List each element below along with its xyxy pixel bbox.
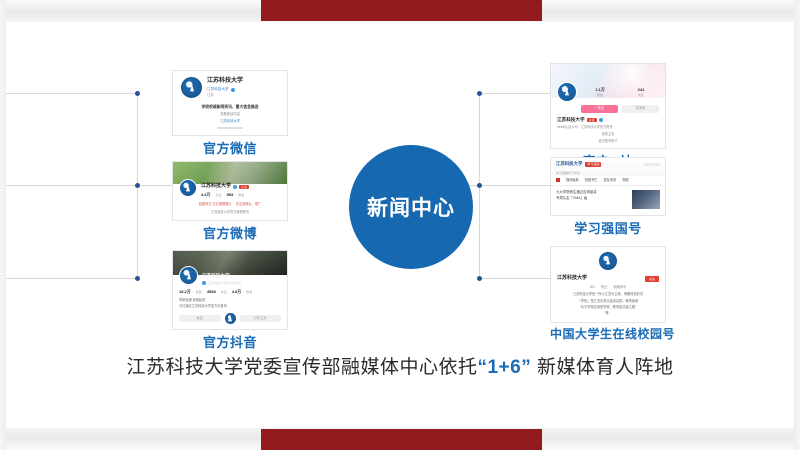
xuexi-navbar[interactable]: 媒体聚焦 校园专栏 校友风采 视频 (551, 176, 665, 186)
students-online-desc3: “水平学校应用型学校，教育部共建之路” (557, 305, 659, 310)
bilibili-card[interactable]: 1.1万 粉丝 241 关注 + 关注 发消息 江苏科技大学 (550, 63, 666, 149)
xuexi-nav-1[interactable]: 校园专栏 (585, 178, 598, 183)
douyin-stat1-value: 18.2万 (179, 289, 191, 295)
wechat-card[interactable]: 江苏科技大学 江苏科技大学 江苏 学校权威新闻资讯、重大信息推送 查看原创内容 … (172, 70, 288, 136)
xuexi-nav-3[interactable]: 视频 (622, 178, 628, 183)
slide-root: 新闻中心 江苏科技大学 江苏科技大学 江苏 (0, 0, 800, 450)
university-logo-icon (179, 266, 198, 285)
weibo-badge: 认证 (239, 185, 249, 190)
weibo-stat2-value: 553 (227, 192, 234, 198)
item-xuexi-qiangguo[interactable]: 江苏科技大学 学习强国 学习强国学习平台 媒体聚焦 校园专栏 校友风采 视频 (550, 157, 666, 237)
connector-node-left-middle (135, 183, 140, 188)
university-logo-icon (557, 82, 577, 102)
verified-badge-icon (599, 118, 603, 122)
bilibili-desc3: 官方账号简介 (557, 139, 659, 144)
verified-badge-icon (231, 88, 235, 92)
douyin-avatar-icon (225, 313, 236, 324)
students-online-desc1: 江苏科技大学是一所以江苏为主体、博鳌特色的省 (557, 292, 659, 297)
students-online-stat1-label: 粉丝 (601, 285, 607, 290)
douyin-desc2: 今日通过江苏科技大学官方抖音号 (179, 304, 281, 309)
item-official-wechat[interactable]: 江苏科技大学 江苏科技大学 江苏 学校权威新闻资讯、重大信息推送 查看原创内容 … (172, 70, 288, 157)
bilibili-message-button[interactable]: 发消息 (622, 105, 659, 113)
douyin-card[interactable]: 江苏科技大学 江苏科技大学官方抖音号 18.2万 获赞 4558 关注 4.8万 (172, 250, 288, 330)
bilibili-stat1-label: 粉丝 (582, 93, 618, 98)
douyin-desc1: 学研船魂 扬帆起航 (179, 298, 281, 303)
wechat-placeholder-line (217, 127, 243, 129)
connector-node-right-bottom (477, 276, 482, 281)
bilibili-desc1: bilibili认证公司：江苏科技大学官方账号 (557, 125, 659, 130)
douyin-message-button[interactable]: 私信 (179, 315, 221, 323)
douyin-share-button[interactable]: 分享主页 (240, 315, 282, 323)
xuexi-thumbnail (632, 190, 660, 209)
weibo-stat1-label: 关注 (216, 193, 222, 198)
wechat-line3: 江苏科技大学 (180, 119, 280, 124)
bilibili-desc2: 查看主页 (557, 132, 659, 137)
connector-left-top (6, 93, 137, 94)
hub-news-center[interactable]: 新闻中心 (349, 145, 473, 269)
item-official-bilibili[interactable]: 1.1万 粉丝 241 关注 + 关注 发消息 江苏科技大学 (550, 63, 666, 170)
students-online-stat2: 新媒体号 (613, 285, 626, 290)
weibo-stat2-label: 粉丝 (238, 193, 244, 198)
university-logo-icon (181, 77, 202, 98)
item-china-students-online[interactable]: 江苏科技大学 关注 600 粉丝 新媒体号 江苏科技大学是一所以江苏为主体、博鳌… (550, 246, 666, 342)
label-official-weibo: 官方微博 (172, 223, 288, 242)
accent-bar-bottom (261, 429, 542, 450)
caption-highlight: “1+6” (477, 357, 531, 378)
xuexi-headline2: 专项认定「CMA」级 (556, 196, 628, 201)
douyin-stat1-label: 获赞 (196, 290, 202, 295)
university-logo-icon (179, 179, 197, 197)
douyin-account-sub: 江苏科技大学官方抖音号 (208, 281, 241, 286)
caption-prefix: 江苏科技大学党委宣传部融媒体中心依托 (126, 357, 477, 378)
caption-suffix: 新媒体育人阵地 (537, 357, 674, 378)
weibo-account-name: 江苏科技大学 (201, 183, 231, 191)
students-online-stat1: 600 (590, 285, 595, 290)
wechat-card-body: 学校权威新闻资讯、重大信息推送 查看原创内容 江苏科技大学 (173, 103, 287, 136)
menu-icon[interactable] (556, 178, 560, 182)
label-official-douyin: 官方抖音 (172, 332, 288, 351)
xuexi-headline1: 九大学院师生通过百场宣讲 (556, 190, 628, 195)
label-xuexi-qiangguo: 学习强国号 (550, 218, 666, 237)
douyin-account-name: 江苏科技大学 (202, 273, 281, 280)
verified-badge-icon (233, 185, 237, 189)
connector-left-middle (6, 185, 137, 186)
slide-frame-right (794, 0, 800, 450)
xuexi-card[interactable]: 江苏科技大学 学习强国 学习强国学习平台 媒体聚焦 校园专栏 校友风采 视频 (550, 157, 666, 216)
students-online-card[interactable]: 江苏科技大学 关注 600 粉丝 新媒体号 江苏科技大学是一所以江苏为主体、博鳌… (550, 246, 666, 323)
bilibili-follow-button[interactable]: + 关注 (581, 105, 618, 113)
connector-node-left-top (135, 91, 140, 96)
label-china-students-online: 中国大学生在线校园号 (550, 325, 666, 342)
bilibili-identity-row: 1.1万 粉丝 241 关注 (557, 82, 659, 102)
students-online-desc2: 「学校」是江苏省重点建设高校，教育部和 (557, 299, 659, 304)
university-logo-icon (599, 252, 617, 270)
xuexi-nav-0[interactable]: 媒体聚焦 (566, 178, 579, 183)
wechat-desc: 学校权威新闻资讯、重大信息推送 (180, 105, 280, 111)
xuexi-account-name: 江苏科技大学 (556, 161, 582, 168)
wechat-location: 江苏 (207, 93, 279, 98)
weibo-tag2: 关注官博后，推广 (236, 202, 262, 207)
students-online-follow-button[interactable]: 关注 (645, 276, 659, 283)
xuexi-header-placeholder (644, 163, 660, 166)
douyin-stat2-value: 4558 (207, 289, 216, 295)
item-official-douyin[interactable]: 江苏科技大学 江苏科技大学官方抖音号 18.2万 获赞 4558 关注 4.8万 (172, 250, 288, 351)
verified-badge-icon (202, 281, 206, 285)
connector-node-right-top (477, 91, 482, 96)
students-online-logo-row (557, 252, 659, 272)
weibo-identity-row: 江苏科技大学 认证 4.6万 关注 553 粉丝 (179, 177, 281, 198)
bilibili-stat2-label: 关注 (623, 93, 659, 98)
weibo-desc: 江苏科技大学官方微博账号 (179, 210, 281, 215)
xuexi-nav-2[interactable]: 校友风采 (604, 178, 617, 183)
slide-caption: 江苏科技大学党委宣传部融媒体中心依托“1+6” 新媒体育人阵地 (0, 352, 800, 379)
douyin-stat2-label: 关注 (221, 290, 227, 295)
weibo-card[interactable]: 江苏科技大学 认证 4.6万 关注 553 粉丝 (172, 161, 288, 221)
xuexi-card-header: 江苏科技大学 学习强国 学习强国学习平台 (551, 158, 665, 176)
weibo-tag1: 校园风光 左右横屏展示 (199, 202, 232, 207)
xuexi-verify-tag: 学习强国 (585, 162, 601, 167)
wechat-card-header: 江苏科技大学 江苏科技大学 江苏 (173, 71, 287, 103)
accent-bar-top (261, 0, 542, 21)
students-online-account-name: 江苏科技大学 (557, 275, 587, 283)
label-official-wechat: 官方微信 (172, 138, 288, 157)
bilibili-verify-tag: 认证 (587, 118, 597, 123)
connector-left-bottom (6, 278, 137, 279)
item-official-weibo[interactable]: 江苏科技大学 认证 4.6万 关注 553 粉丝 (172, 161, 288, 242)
douyin-stat3-value: 4.8万 (232, 289, 242, 295)
douyin-identity-row: 江苏科技大学 江苏科技大学官方抖音号 (179, 266, 281, 285)
connector-node-right-middle (477, 183, 482, 188)
douyin-stat3-label: 粉丝 (246, 290, 252, 295)
wechat-account-name: 江苏科技大学 (207, 77, 279, 86)
wechat-account-sub: 江苏科技大学 (207, 87, 229, 92)
weibo-stat1-value: 4.6万 (201, 192, 211, 198)
bilibili-account-name: 江苏科技大学 (557, 117, 585, 124)
connector-node-left-bottom (135, 276, 140, 281)
wechat-line2: 查看原创内容 (180, 112, 280, 117)
students-online-desc4: “等。 (557, 311, 659, 316)
wechat-identity-row: 江苏科技大学 江苏科技大学 江苏 (181, 77, 279, 99)
hub-label: 新闻中心 (367, 192, 455, 222)
